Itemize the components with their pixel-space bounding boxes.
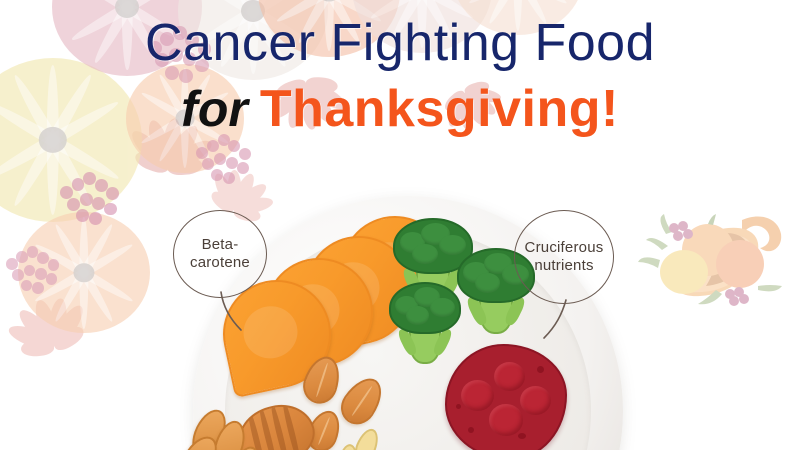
headline-line-2: forThanksgiving! <box>0 80 800 151</box>
cranberry-sauce <box>445 344 567 450</box>
cornucopia-icon <box>638 198 788 306</box>
beta-carotene-line-1: Beta- <box>190 236 250 254</box>
beta-carotene-bubble: Beta- carotene <box>173 210 267 298</box>
headline-line-1: Cancer Fighting Food <box>0 14 800 72</box>
maple-leaf-decor <box>0 288 112 404</box>
poster-canvas: Cancer Fighting Food forThanksgiving! <box>0 0 800 450</box>
pumpkin-decor <box>18 212 150 333</box>
cruciferous-line-2: nutrients <box>525 257 604 275</box>
headline-word-thanksgiving: Thanksgiving! <box>260 80 619 138</box>
cruciferous-line-1: Cruciferous <box>525 239 604 257</box>
berry-cluster-decor <box>60 172 118 213</box>
broccoli-floret <box>389 282 457 360</box>
headline-word-for: for <box>181 81 248 137</box>
beta-carotene-line-2: carotene <box>190 254 250 272</box>
cruciferous-nutrients-bubble: Cruciferous nutrients <box>514 210 614 304</box>
callout-cruciferous-nutrients: Cruciferous nutrients <box>508 208 638 348</box>
callout-beta-carotene: Beta- carotene <box>165 206 285 336</box>
berry-cluster-decor <box>6 246 58 282</box>
page-title: Cancer Fighting Food forThanksgiving! <box>0 14 800 151</box>
